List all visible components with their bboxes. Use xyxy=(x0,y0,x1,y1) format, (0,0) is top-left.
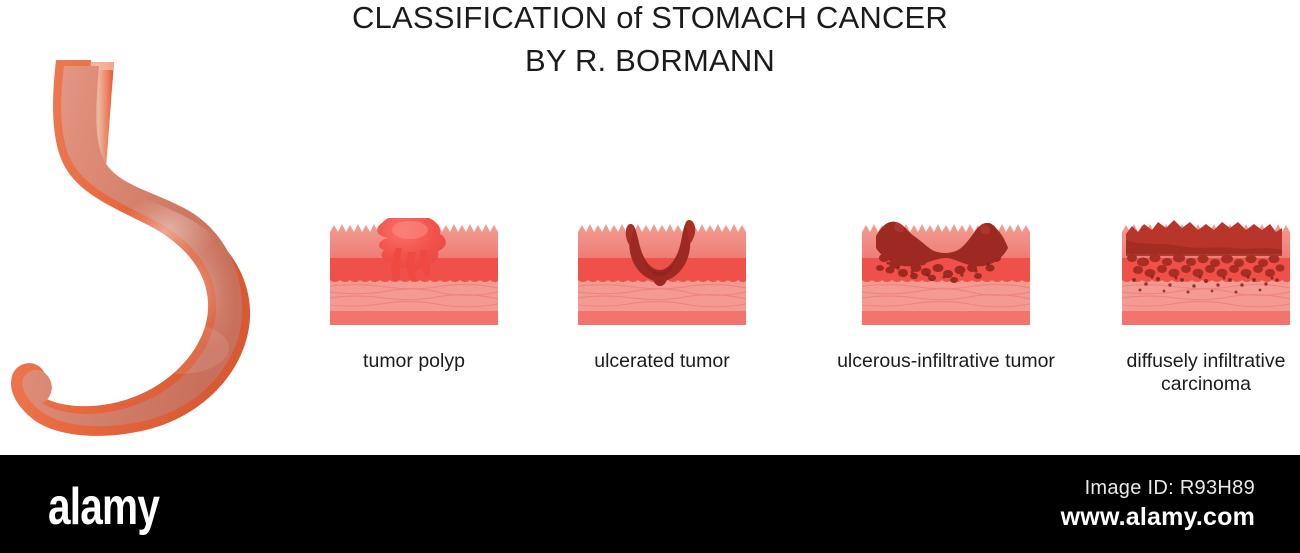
alamy-logo: alamy xyxy=(48,481,159,533)
image-id-text: Image ID: R93H89 xyxy=(1085,475,1255,501)
watermark-bar: alamy Image ID: R93H89 www.alamy.com xyxy=(0,455,1300,553)
panel-tumor-polyp: tumor polyp xyxy=(330,218,498,328)
panel-ulcerated-tumor: ulcerated tumor xyxy=(578,218,746,328)
stomach-highlight xyxy=(90,84,248,374)
cross-section-ulcerous-infiltrative-tumor xyxy=(862,218,1030,328)
figure-canvas: CLASSIFICATION of STOMACH CANCER BY R. B… xyxy=(0,0,1300,455)
layer-mucosa xyxy=(578,224,746,258)
layer-serosa xyxy=(1122,310,1290,325)
cross-section-ulcerated-tumor xyxy=(578,218,746,328)
layer-serosa xyxy=(330,310,498,325)
layer-muscularis xyxy=(862,280,1030,311)
panel-diffusely-infiltrative-carcinoma: diffusely infiltrative carcinoma xyxy=(1122,218,1290,328)
panel-label-tumor-polyp: tumor polyp xyxy=(363,350,465,373)
layer-serosa xyxy=(578,310,746,325)
cross-section-diffusely-infiltrative-carcinoma xyxy=(1122,218,1290,328)
tumor-lesion xyxy=(70,332,138,400)
title-line-1: CLASSIFICATION of STOMACH CANCER xyxy=(352,0,948,35)
panel-label-ulcerated-tumor: ulcerated tumor xyxy=(594,350,729,373)
panel-label-diffusely-infiltrative-carcinoma: diffusely infiltrative carcinoma xyxy=(1101,350,1300,396)
layer-serosa xyxy=(862,310,1030,325)
panel-label-ulcerous-infiltrative-tumor: ulcerous-infiltrative tumor xyxy=(837,350,1055,373)
cross-section-tumor-polyp xyxy=(330,218,498,328)
layer-muscularis xyxy=(330,280,498,311)
stomach-anatomy xyxy=(0,18,294,458)
alamy-url-text: www.alamy.com xyxy=(1061,502,1255,532)
panel-ulcerous-infiltrative-tumor: ulcerous-infiltrative tumor xyxy=(862,218,1030,328)
